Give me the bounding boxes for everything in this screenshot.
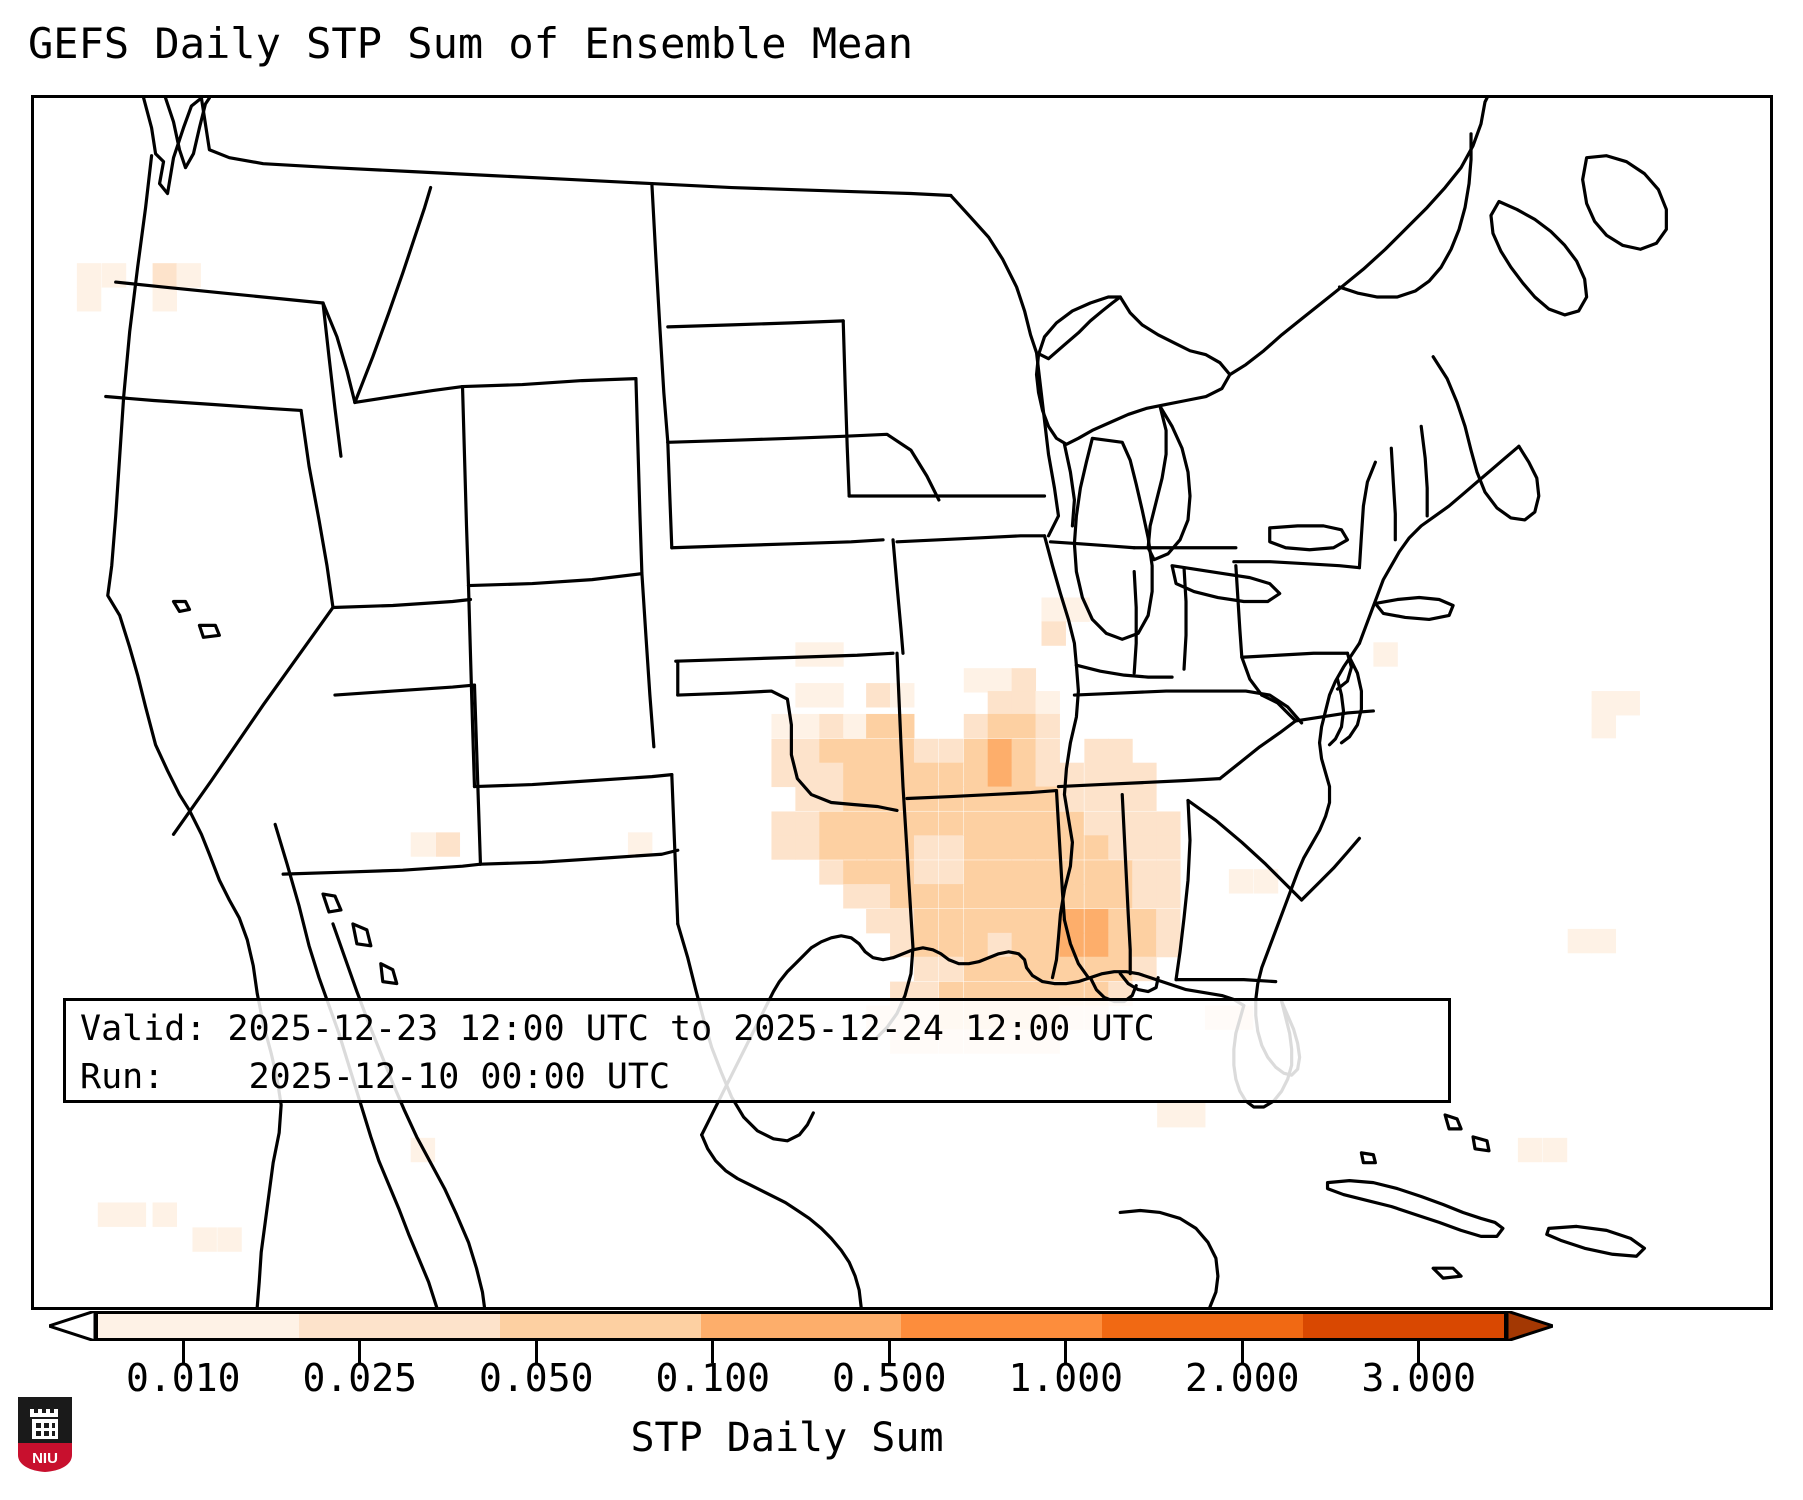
colorbar-tick-label: 0.010	[126, 1356, 240, 1400]
nv-ut-border	[333, 600, 471, 608]
run-time-line: Run: 2025-12-10 00:00 UTC	[80, 1053, 1434, 1101]
mt-id-diag	[355, 188, 431, 403]
or-ca-border	[106, 397, 301, 411]
tn-ms-al-north	[1058, 779, 1219, 787]
geography-layer	[34, 98, 1770, 1307]
colorbar-tick	[711, 1341, 714, 1363]
lake-erie	[1172, 566, 1280, 602]
mn-wi-border	[1037, 353, 1059, 536]
la-ms-border	[1064, 920, 1088, 978]
colorbar-tick-label: 0.100	[656, 1356, 770, 1400]
nova-scotia	[1491, 201, 1587, 314]
canada-ne-coast	[1230, 98, 1487, 375]
nh-me-border	[1421, 426, 1427, 516]
info-box: Valid: 2025-12-23 12:00 UTC to 2025-12-2…	[63, 998, 1451, 1103]
mississippi-delta-detail	[1120, 974, 1158, 992]
ks-ok-border	[676, 653, 893, 661]
colorbar-tick	[1417, 1341, 1420, 1363]
ne-border-west	[668, 442, 672, 547]
dakota-border	[652, 184, 668, 443]
niu-logo: NIU	[16, 1395, 74, 1473]
us-canada-border-west	[201, 98, 950, 196]
il-in-border	[1134, 572, 1136, 673]
ga-fl-border	[1176, 980, 1276, 982]
co-border-right	[642, 574, 654, 747]
baja-island-c	[381, 964, 397, 984]
bahamas-2	[1473, 1137, 1489, 1151]
lake-superior	[1037, 297, 1230, 444]
wy-border-right	[636, 379, 642, 574]
ok-east-border	[897, 653, 907, 850]
ca-nv-border	[174, 410, 333, 834]
ky-il-in	[1076, 665, 1172, 677]
cuba	[1328, 1181, 1503, 1237]
colorbar-tick-label: 0.500	[832, 1356, 946, 1400]
colorbar-tick-label: 2.000	[1185, 1356, 1299, 1400]
baja-island-b	[353, 924, 371, 946]
mo-ia-border	[897, 536, 1044, 542]
logo-text: NIU	[32, 1450, 58, 1467]
ks-mo-border	[893, 540, 903, 653]
colorbar-tick	[1064, 1341, 1067, 1363]
colorbar-tick-label: 0.050	[479, 1356, 593, 1400]
lake-ontario	[1270, 526, 1348, 550]
baja-island-a	[323, 894, 341, 912]
long-island	[1375, 598, 1453, 620]
colorbar-tick	[1241, 1341, 1244, 1363]
colorbar-tick	[888, 1341, 891, 1363]
colorbar-segment	[500, 1314, 701, 1338]
colorbar-tick	[182, 1341, 185, 1363]
ny-vt-nh	[1359, 462, 1375, 567]
colorbar-extend-high-arrow	[1507, 1311, 1553, 1341]
gulf-island	[1361, 1153, 1375, 1163]
colorbar-axis-label: STP Daily Sum	[630, 1414, 943, 1462]
map-axes[interactable]: Valid: 2025-12-23 12:00 UTC to 2025-12-2…	[31, 95, 1773, 1310]
co-nm-border	[474, 775, 671, 787]
colorbar-swatches	[95, 1311, 1507, 1341]
wy-border-left	[463, 387, 469, 586]
pa-ny-border	[1234, 562, 1360, 568]
lake-huron	[1148, 406, 1190, 559]
channel-islands-2	[199, 625, 219, 637]
canada-lakes-border	[951, 196, 1120, 359]
tn-nc-border	[1220, 721, 1296, 779]
colorbar-segment	[701, 1314, 902, 1338]
page-title: GEFS Daily STP Sum of Ensemble Mean	[28, 16, 913, 72]
mexico-east-coast	[702, 1135, 861, 1307]
colorbar-segment	[1303, 1314, 1504, 1338]
hispaniola	[1547, 1226, 1645, 1256]
colorbar-tick-label: 0.025	[303, 1356, 417, 1400]
yucatan	[1120, 1210, 1218, 1307]
colorbar[interactable]	[95, 1311, 1507, 1341]
pacific-coastline	[108, 156, 281, 1307]
valid-time-line: Valid: 2025-12-23 12:00 UTC to 2025-12-2…	[80, 1005, 1434, 1053]
nd-sd-border	[668, 321, 843, 327]
mississippi-river	[1052, 665, 1078, 977]
mi-wi-border	[1064, 444, 1074, 526]
colorbar-tick	[358, 1341, 361, 1363]
maine-border	[1433, 357, 1539, 520]
pa-md-border	[1242, 653, 1348, 657]
tn-ky-border	[1074, 691, 1301, 723]
in-oh-border	[1184, 568, 1186, 669]
colorbar-tick-label: 3.000	[1362, 1356, 1476, 1400]
vt-nh-border	[1391, 448, 1395, 540]
bahamas-1	[1445, 1115, 1461, 1129]
nm-south-border	[480, 850, 677, 864]
colorbar-extend-low-arrow	[49, 1311, 95, 1341]
sd-ne-border	[668, 434, 939, 500]
ne-ks-border	[672, 540, 883, 548]
va-nc-border	[1296, 711, 1374, 721]
colorbar-tick-label: 1.000	[1009, 1356, 1123, 1400]
gulf-of-california	[333, 924, 484, 1307]
ga-sc-border	[1188, 801, 1302, 901]
ms-al-border	[1122, 795, 1130, 974]
mn-sd-border	[843, 321, 849, 496]
colorbar-tick	[535, 1341, 538, 1363]
wy-border-bottom	[468, 574, 641, 586]
colorbar-segment	[98, 1314, 299, 1338]
jamaica	[1433, 1268, 1461, 1278]
newfoundland	[1583, 156, 1667, 250]
channel-islands-1	[174, 602, 190, 612]
al-ga-border	[1176, 801, 1190, 980]
ut-az-bottom	[335, 685, 475, 695]
west-coast	[144, 98, 202, 194]
lake-michigan	[1074, 438, 1152, 639]
az-nm-south	[283, 864, 480, 874]
colorbar-segment	[299, 1314, 500, 1338]
oh-wv-pa	[1236, 566, 1262, 695]
colorbar-segment	[1102, 1314, 1303, 1338]
colorbar-segment	[901, 1314, 1102, 1338]
mo-ar-border	[907, 791, 1056, 799]
id-wy-mt	[355, 387, 463, 403]
wa-or-border	[116, 282, 323, 303]
ok-tx-border	[678, 691, 897, 810]
wi-il-border	[1050, 542, 1134, 548]
ia-il-border	[1045, 536, 1077, 665]
wy-border-top	[463, 379, 636, 387]
ar-ms-border	[1056, 791, 1064, 920]
